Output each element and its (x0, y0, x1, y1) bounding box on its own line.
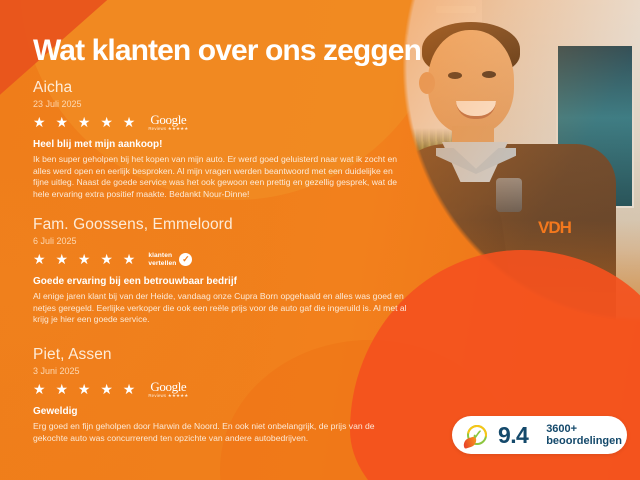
review-body: Ik ben super geholpen bij het kopen van … (33, 154, 408, 200)
review-meta: ★ ★ ★ ★ ★ Google Reviews ★★★★★ (33, 381, 408, 398)
klantenvertellen-label-line1: klanten (148, 252, 172, 259)
score-text: 3600+ beoordelingen (546, 423, 622, 447)
review-body: Erg goed en fijn geholpen door Harwin de… (33, 421, 408, 444)
page-title: Wat klanten over ons zeggen (33, 34, 463, 68)
score-value: 9.4 (498, 423, 528, 448)
reviewer-name: Fam. Goossens, Emmeloord (33, 215, 408, 234)
klantenvertellen-label: klanten vertellen (148, 252, 176, 267)
review-card: Fam. Goossens, Emmeloord 6 Juli 2025 ★ ★… (33, 215, 408, 326)
review-heading: Goede ervaring bij een betrouwbaar bedri… (33, 275, 408, 289)
score-badge[interactable]: ✓ 9.4 3600+ beoordelingen (452, 416, 627, 454)
star-rating: ★ ★ ★ ★ ★ (33, 114, 138, 131)
star-rating: ★ ★ ★ ★ ★ (33, 251, 138, 268)
google-logo: Google Reviews ★★★★★ (148, 113, 188, 131)
klantenvertellen-logo: klanten vertellen ✓ (148, 252, 192, 267)
review-date: 23 Juli 2025 (33, 98, 408, 111)
check-icon: ✓ (471, 427, 484, 442)
klantenvertellen-label-line2: vertellen (148, 260, 176, 267)
review-meta: ★ ★ ★ ★ ★ klanten vertellen ✓ (33, 251, 408, 268)
google-reviews-sublabel: Reviews ★★★★★ (148, 394, 188, 398)
testimonial-banner: VDH Wat klanten over ons zeggen Aicha 23… (0, 0, 640, 480)
review-count-label: beoordelingen (546, 435, 622, 447)
google-logo-label: Google (150, 113, 186, 126)
review-count: 3600+ (546, 423, 622, 435)
reviewer-name: Piet, Assen (33, 345, 408, 364)
klantenvertellen-check-icon: ✓ (465, 423, 489, 447)
review-date: 6 Juli 2025 (33, 235, 408, 248)
review-meta: ★ ★ ★ ★ ★ Google Reviews ★★★★★ (33, 114, 408, 131)
review-date: 3 Juni 2025 (33, 365, 408, 378)
review-card: Aicha 23 Juli 2025 ★ ★ ★ ★ ★ Google Revi… (33, 78, 408, 200)
review-card: Piet, Assen 3 Juni 2025 ★ ★ ★ ★ ★ Google… (33, 345, 408, 444)
google-reviews-sublabel: Reviews ★★★★★ (148, 127, 188, 131)
review-heading: Heel blij met mijn aankoop! (33, 138, 408, 152)
review-heading: Geweldig (33, 405, 408, 419)
reviewer-name: Aicha (33, 78, 408, 97)
banner-content: Wat klanten over ons zeggen Aicha 23 Jul… (0, 0, 640, 480)
google-logo-label: Google (150, 380, 186, 393)
review-body: Al enige jaren klant bij van der Heide, … (33, 291, 408, 326)
check-badge-icon: ✓ (179, 253, 192, 266)
google-logo: Google Reviews ★★★★★ (148, 380, 188, 398)
check-icon: ✓ (182, 255, 190, 264)
star-rating: ★ ★ ★ ★ ★ (33, 381, 138, 398)
